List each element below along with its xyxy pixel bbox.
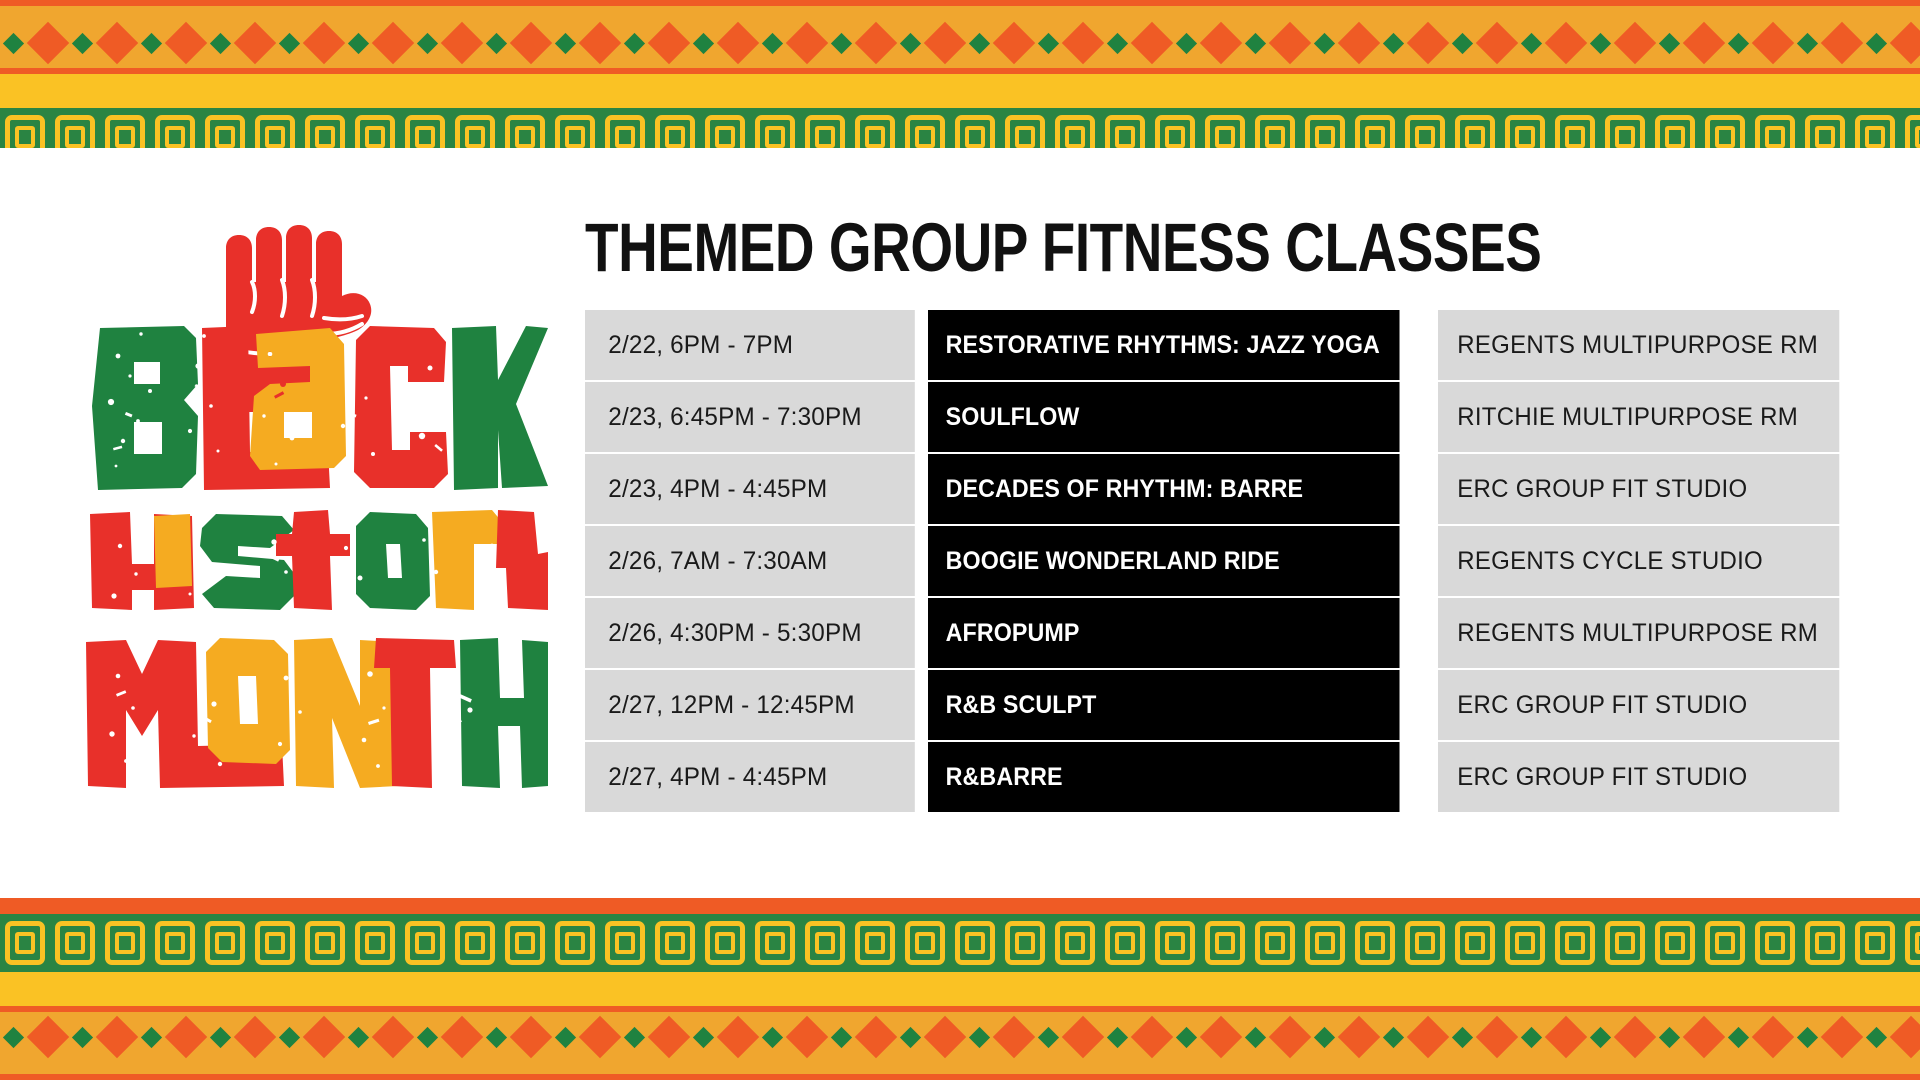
square-motif (205, 921, 245, 965)
cell-class-name: R&BARRE (928, 742, 1399, 812)
square-inner (515, 932, 535, 954)
diamond-large (1476, 22, 1518, 64)
diamond-large (855, 1016, 897, 1058)
square-inner (365, 126, 385, 148)
square-inner (915, 932, 935, 954)
cell-time: 2/26, 4:30PM - 5:30PM (585, 598, 915, 668)
page-title: THEMED GROUP FITNESS CLASSES (585, 214, 1728, 282)
square-inner (1565, 126, 1585, 148)
diamond-small (486, 32, 507, 53)
square-inner (665, 126, 685, 148)
diamond-large (1200, 1016, 1242, 1058)
diamond-small (1797, 1026, 1818, 1047)
diamond-small (1866, 1026, 1887, 1047)
square-motif (955, 921, 995, 965)
diamond-row (0, 1012, 1920, 1062)
cell-time: 2/23, 4PM - 4:45PM (585, 454, 915, 524)
diamond-large (993, 22, 1035, 64)
square-inner (1815, 126, 1835, 148)
diamond-large (648, 1016, 690, 1058)
square-inner (1315, 932, 1335, 954)
square-inner (1065, 932, 1085, 954)
square-motif (1505, 921, 1545, 965)
diamond-small (1452, 32, 1473, 53)
diamond-large (510, 22, 552, 64)
cell-location: ERC GROUP FIT STUDIO (1438, 454, 1839, 524)
diamond-small (72, 32, 93, 53)
stripe-gold (0, 6, 1920, 18)
diamond-small (831, 1026, 852, 1047)
cell-location: RITCHIE MULTIPURPOSE RM (1438, 382, 1839, 452)
diamond-large (234, 1016, 276, 1058)
square-inner (15, 126, 35, 148)
square-inner (1415, 126, 1435, 148)
square-motif (55, 921, 95, 965)
square-inner (815, 126, 835, 148)
diamond-small (1245, 32, 1266, 53)
square-inner (1015, 932, 1035, 954)
square-motif (255, 921, 295, 965)
square-inner (1465, 932, 1485, 954)
square-inner (1265, 932, 1285, 954)
square-motif (305, 921, 345, 965)
square-inner (415, 126, 435, 148)
diamond-large (1890, 22, 1920, 64)
diamond-small (969, 32, 990, 53)
square-pattern-band (0, 914, 1920, 972)
diamond-small (1107, 32, 1128, 53)
square-inner (115, 126, 135, 148)
square-inner (65, 126, 85, 148)
diamond-small (348, 1026, 369, 1047)
square-inner (315, 126, 335, 148)
diamond-small (1659, 32, 1680, 53)
diamond-large (1338, 22, 1380, 64)
square-inner (1765, 932, 1785, 954)
diamond-small (555, 32, 576, 53)
square-inner (765, 126, 785, 148)
diamond-small (141, 32, 162, 53)
diamond-large (1752, 1016, 1794, 1058)
diamond-small (831, 32, 852, 53)
square-motif (155, 921, 195, 965)
square-motif (705, 921, 745, 965)
square-inner (215, 932, 235, 954)
diamond-small (1521, 1026, 1542, 1047)
square-inner (465, 932, 485, 954)
diamond-large (303, 1016, 345, 1058)
table-row: 2/23, 4PM - 4:45PMDECADES OF RHYTHM: BAR… (585, 454, 1856, 524)
diamond-large (786, 22, 828, 64)
stripe-orange-thin (0, 1074, 1920, 1080)
square-inner (15, 932, 35, 954)
diamond-pattern-band (0, 1012, 1920, 1062)
square-motif (5, 921, 45, 965)
diamond-small (969, 1026, 990, 1047)
diamond-large (924, 22, 966, 64)
diamond-large (1683, 22, 1725, 64)
diamond-large (1821, 22, 1863, 64)
square-inner (565, 932, 585, 954)
diamond-large (1062, 1016, 1104, 1058)
cell-time: 2/27, 4PM - 4:45PM (585, 742, 915, 812)
diamond-small (1866, 32, 1887, 53)
square-inner (1365, 126, 1385, 148)
square-inner (1165, 126, 1185, 148)
square-motif (755, 921, 795, 965)
table-row: 2/26, 4:30PM - 5:30PMAFROPUMPREGENTS MUL… (585, 598, 1856, 668)
square-inner (1765, 126, 1785, 148)
diamond-small (279, 32, 300, 53)
stripe-gold (0, 1062, 1920, 1074)
square-motif (805, 921, 845, 965)
diamond-large (1200, 22, 1242, 64)
diamond-small (417, 32, 438, 53)
diamond-row (0, 18, 1920, 68)
table-row: 2/23, 6:45PM - 7:30PMSOULFLOWRITCHIE MUL… (585, 382, 1856, 452)
diamond-large (1062, 22, 1104, 64)
diamond-large (441, 1016, 483, 1058)
square-motif (1305, 921, 1345, 965)
square-motif (455, 921, 495, 965)
square-inner (1615, 126, 1635, 148)
square-inner (1715, 126, 1735, 148)
square-inner (1865, 932, 1885, 954)
logo-word-black (92, 326, 548, 490)
diamond-large (1131, 22, 1173, 64)
square-inner (765, 932, 785, 954)
square-inner (1565, 932, 1585, 954)
square-inner (365, 932, 385, 954)
square-motif (1105, 921, 1145, 965)
diamond-large (1545, 1016, 1587, 1058)
square-inner (1515, 932, 1535, 954)
cell-location: REGENTS CYCLE STUDIO (1438, 526, 1839, 596)
diamond-small (1728, 32, 1749, 53)
diamond-small (900, 1026, 921, 1047)
diamond-large (1269, 22, 1311, 64)
square-motif (1255, 921, 1295, 965)
stripe-orange-wide (0, 898, 1920, 914)
square-inner (65, 932, 85, 954)
diamond-small (1452, 1026, 1473, 1047)
diamond-large (1407, 1016, 1449, 1058)
schedule-panel: THEMED GROUP FITNESS CLASSES 2/22, 6PM -… (585, 148, 1855, 814)
square-inner (1865, 126, 1885, 148)
square-motif (1555, 921, 1595, 965)
diamond-large (165, 22, 207, 64)
square-motif (1455, 921, 1495, 965)
square-inner (265, 932, 285, 954)
square-motif (405, 921, 445, 965)
square-motif (905, 921, 945, 965)
square-motif (1405, 921, 1445, 965)
diamond-small (624, 32, 645, 53)
square-motif (605, 921, 645, 965)
diamond-large (1614, 1016, 1656, 1058)
cell-class-name: RESTORATIVE RHYTHMS: JAZZ YOGA (928, 310, 1399, 380)
diamond-small (693, 1026, 714, 1047)
diamond-large (1614, 22, 1656, 64)
schedule-table-body: 2/22, 6PM - 7PMRESTORATIVE RHYTHMS: JAZZ… (585, 310, 1856, 812)
diamond-large (1752, 22, 1794, 64)
diamond-small (693, 32, 714, 53)
diamond-pattern-band (0, 18, 1920, 68)
square-motif (1905, 921, 1920, 965)
diamond-small (348, 32, 369, 53)
square-inner (315, 932, 335, 954)
square-inner (165, 932, 185, 954)
cell-location: REGENTS MULTIPURPOSE RM (1438, 310, 1839, 380)
logo-word-month (86, 638, 548, 788)
diamond-small (1521, 32, 1542, 53)
diamond-large (27, 22, 69, 64)
square-inner (1015, 126, 1035, 148)
table-row: 2/26, 7AM - 7:30AMBOOGIE WONDERLAND RIDE… (585, 526, 1856, 596)
square-inner (265, 126, 285, 148)
diamond-large (96, 22, 138, 64)
cell-class-name: R&B SCULPT (928, 670, 1399, 740)
square-motif (555, 921, 595, 965)
square-inner (1215, 126, 1235, 148)
diamond-small (1107, 1026, 1128, 1047)
square-inner (1715, 932, 1735, 954)
square-inner (415, 932, 435, 954)
square-motif (1805, 921, 1845, 965)
diamond-small (1038, 1026, 1059, 1047)
square-inner (965, 126, 985, 148)
square-inner (1315, 126, 1335, 148)
diamond-large (1131, 1016, 1173, 1058)
square-inner (565, 126, 585, 148)
diamond-small (555, 1026, 576, 1047)
diamond-large (717, 1016, 759, 1058)
cell-location: REGENTS MULTIPURPOSE RM (1438, 598, 1839, 668)
diamond-large (234, 22, 276, 64)
diamond-large (1683, 1016, 1725, 1058)
square-inner (165, 126, 185, 148)
square-motif (505, 921, 545, 965)
diamond-large (993, 1016, 1035, 1058)
square-inner (815, 932, 835, 954)
diamond-small (1383, 32, 1404, 53)
diamond-small (279, 1026, 300, 1047)
table-row: 2/27, 4PM - 4:45PMR&BARREERC GROUP FIT S… (585, 742, 1856, 812)
diamond-large (579, 1016, 621, 1058)
cell-time: 2/26, 7AM - 7:30AM (585, 526, 915, 596)
cell-location: ERC GROUP FIT STUDIO (1438, 742, 1839, 812)
square-inner (865, 932, 885, 954)
diamond-large (1545, 22, 1587, 64)
diamond-small (1590, 1026, 1611, 1047)
square-motif (1355, 921, 1395, 965)
diamond-large (717, 22, 759, 64)
square-motif (1005, 921, 1045, 965)
square-motif (1055, 921, 1095, 965)
diamond-small (900, 32, 921, 53)
cell-location: ERC GROUP FIT STUDIO (1438, 670, 1839, 740)
diamond-small (3, 32, 24, 53)
cell-time: 2/22, 6PM - 7PM (585, 310, 915, 380)
square-inner (865, 126, 885, 148)
table-row: 2/22, 6PM - 7PMRESTORATIVE RHYTHMS: JAZZ… (585, 310, 1856, 380)
diamond-large (786, 1016, 828, 1058)
diamond-large (441, 22, 483, 64)
logo-artwork (78, 216, 548, 806)
square-inner (715, 932, 735, 954)
diamond-small (762, 1026, 783, 1047)
diamond-small (624, 1026, 645, 1047)
cell-class-name: BOOGIE WONDERLAND RIDE (928, 526, 1399, 596)
diamond-small (1314, 32, 1335, 53)
cell-time: 2/23, 6:45PM - 7:30PM (585, 382, 915, 452)
square-inner (1815, 932, 1835, 954)
diamond-large (1821, 1016, 1863, 1058)
square-inner (965, 932, 985, 954)
bottom-decorative-border (0, 898, 1920, 1080)
square-inner (1615, 932, 1635, 954)
square-inner (615, 126, 635, 148)
diamond-small (1383, 1026, 1404, 1047)
diamond-large (510, 1016, 552, 1058)
diamond-large (1338, 1016, 1380, 1058)
square-motif (1605, 921, 1645, 965)
square-inner (1115, 932, 1135, 954)
black-history-month-logo (78, 216, 548, 806)
square-inner (715, 126, 735, 148)
diamond-large (96, 1016, 138, 1058)
square-motif (105, 921, 145, 965)
diamond-large (579, 22, 621, 64)
diamond-large (855, 22, 897, 64)
square-inner (1415, 932, 1435, 954)
square-inner (1515, 126, 1535, 148)
diamond-large (1407, 22, 1449, 64)
cell-class-name: AFROPUMP (928, 598, 1399, 668)
square-inner (1265, 126, 1285, 148)
square-motif (1705, 921, 1745, 965)
diamond-large (303, 22, 345, 64)
logo-word-history (90, 510, 548, 610)
square-inner (1215, 932, 1235, 954)
square-inner (1665, 126, 1685, 148)
main-content: THEMED GROUP FITNESS CLASSES 2/22, 6PM -… (0, 148, 1920, 932)
square-inner (1365, 932, 1385, 954)
stripe-yellow (0, 972, 1920, 1006)
diamond-small (3, 1026, 24, 1047)
cell-class-name: DECADES OF RHYTHM: BARRE (928, 454, 1399, 524)
diamond-large (372, 22, 414, 64)
diamond-small (72, 1026, 93, 1047)
square-inner (215, 126, 235, 148)
diamond-small (1797, 32, 1818, 53)
diamond-small (141, 1026, 162, 1047)
diamond-small (1659, 1026, 1680, 1047)
diamond-large (648, 22, 690, 64)
square-inner (1165, 932, 1185, 954)
square-motif (1855, 921, 1895, 965)
diamond-small (210, 1026, 231, 1047)
diamond-small (1038, 32, 1059, 53)
diamond-small (210, 32, 231, 53)
square-inner (915, 126, 935, 148)
diamond-small (1314, 1026, 1335, 1047)
square-motif (855, 921, 895, 965)
square-motif (655, 921, 695, 965)
square-motif (1655, 921, 1695, 965)
square-inner (1915, 932, 1920, 954)
square-inner (515, 126, 535, 148)
diamond-large (1269, 1016, 1311, 1058)
square-inner (1465, 126, 1485, 148)
square-motif (1205, 921, 1245, 965)
stripe-yellow (0, 74, 1920, 108)
diamond-small (1176, 32, 1197, 53)
diamond-large (27, 1016, 69, 1058)
diamond-small (1728, 1026, 1749, 1047)
square-inner (1665, 932, 1685, 954)
table-row: 2/27, 12PM - 12:45PMR&B SCULPTERC GROUP … (585, 670, 1856, 740)
diamond-small (1590, 32, 1611, 53)
square-inner (665, 932, 685, 954)
square-inner (1115, 126, 1135, 148)
cell-class-name: SOULFLOW (928, 382, 1399, 452)
diamond-large (165, 1016, 207, 1058)
diamond-large (924, 1016, 966, 1058)
square-motif (355, 921, 395, 965)
diamond-small (762, 32, 783, 53)
diamond-large (1476, 1016, 1518, 1058)
diamond-small (486, 1026, 507, 1047)
square-inner (615, 932, 635, 954)
diamond-large (372, 1016, 414, 1058)
diamond-small (1245, 1026, 1266, 1047)
square-motif (1755, 921, 1795, 965)
diamond-large (1890, 1016, 1920, 1058)
diamond-small (1176, 1026, 1197, 1047)
diamond-small (417, 1026, 438, 1047)
square-motif (1155, 921, 1195, 965)
square-inner (115, 932, 135, 954)
square-inner (1065, 126, 1085, 148)
square-inner (465, 126, 485, 148)
square-inner (1915, 126, 1920, 148)
class-schedule-table: 2/22, 6PM - 7PMRESTORATIVE RHYTHMS: JAZZ… (582, 308, 1859, 814)
cell-time: 2/27, 12PM - 12:45PM (585, 670, 915, 740)
